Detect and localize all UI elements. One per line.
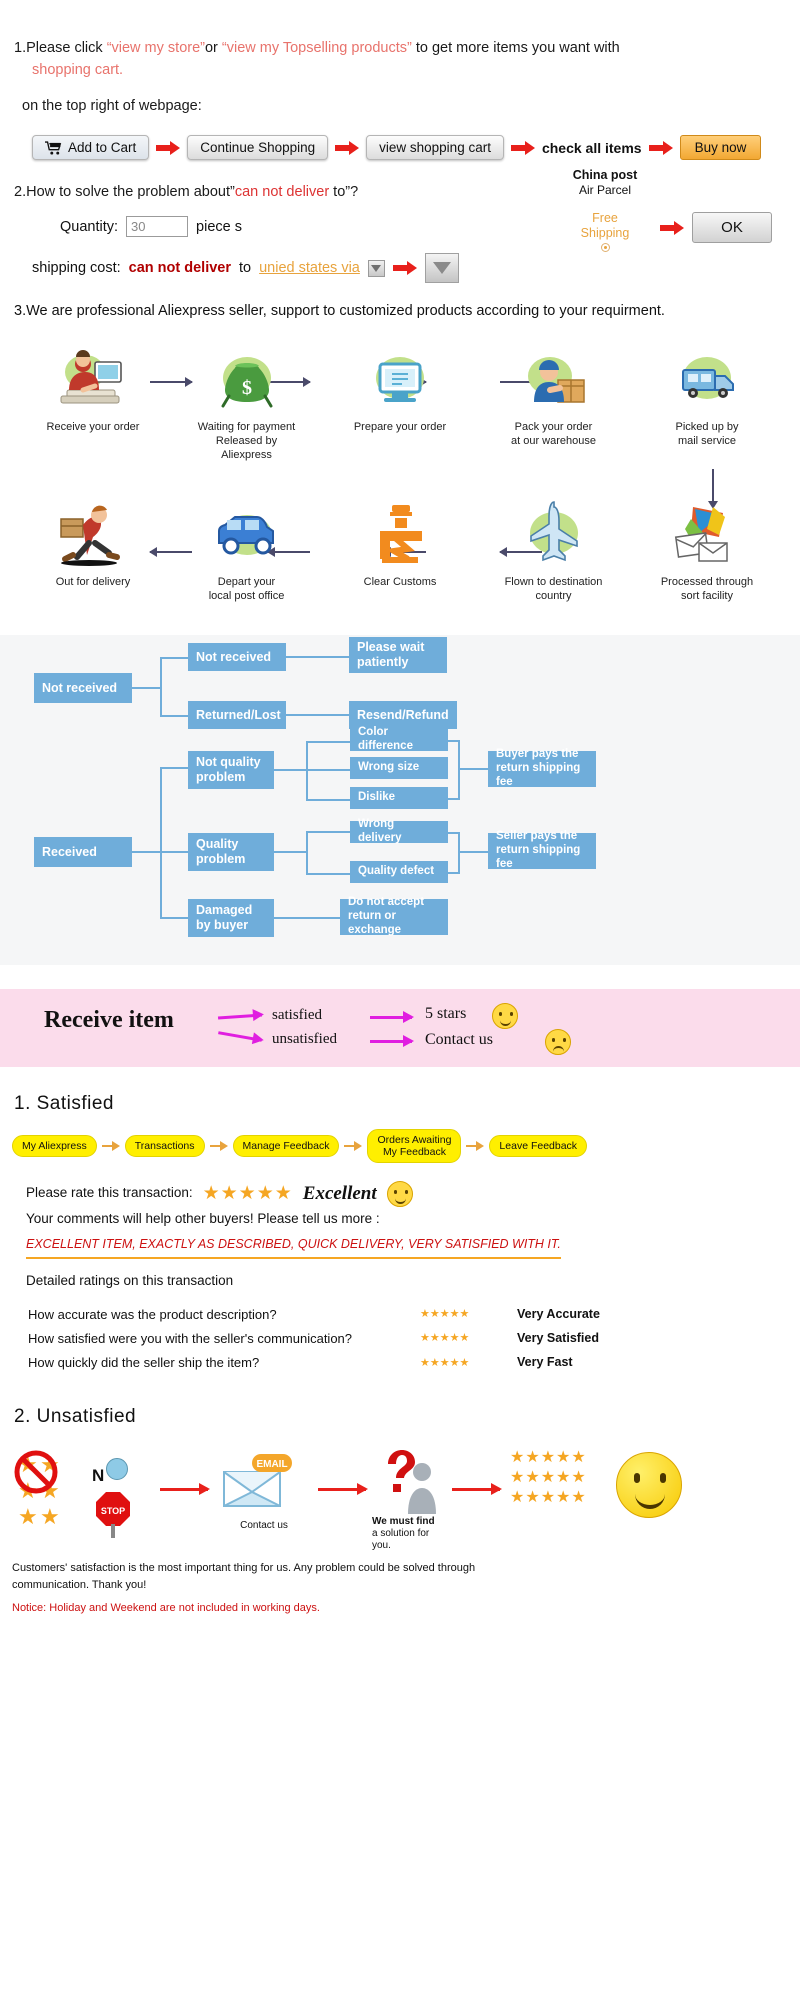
chain-leave-feedback[interactable]: Leave Feedback [489, 1135, 587, 1157]
solution-caption-rest: a solution for you. [372, 1528, 429, 1552]
solution-caption-bold: We must find [372, 1516, 435, 1528]
connector-line [160, 767, 162, 919]
red-right-arrow-icon [393, 261, 417, 275]
quantity-unit: piece s [196, 219, 242, 235]
connector-line [286, 656, 349, 658]
connector-line [458, 851, 488, 853]
table-row: How quickly did the seller ship the item… [28, 1352, 600, 1374]
sorted-mail-icon [652, 496, 762, 576]
section1-line3: on the top right of webpage: [14, 96, 788, 118]
flow-arrow-icon [150, 381, 192, 383]
svg-text:EMAIL: EMAIL [256, 1459, 287, 1470]
ok-button[interactable]: OK [692, 212, 772, 243]
view-shopping-cart-label: view shopping cart [379, 140, 491, 155]
section2-heading-suffix: to”? [329, 184, 358, 200]
rating-block: Please rate this transaction: ★★★★★ Exce… [26, 1179, 800, 1376]
flow-step: Pack your order at our warehouse [499, 341, 609, 449]
red-right-arrow-icon [511, 141, 535, 155]
section1-line1: 1.Please click “view my store”or “view m… [14, 38, 788, 60]
connector-line [132, 687, 162, 689]
rating-value: Very Fast [517, 1352, 600, 1374]
connector-line [458, 832, 460, 874]
connector-line [306, 873, 350, 875]
flow-arrow-icon [150, 551, 192, 553]
flow-step: Processed through sort facility [652, 496, 762, 604]
rate-prompt-row: Please rate this transaction: ★★★★★ Exce… [26, 1179, 800, 1208]
flow-box-please-wait: Please wait patiently [349, 637, 447, 673]
view-topselling-link[interactable]: “view my Topselling products” [222, 40, 412, 56]
connector-line [160, 715, 188, 717]
rating-stars: ★★★★★ [420, 1328, 515, 1350]
star-row: ★★★★★ [510, 1468, 587, 1488]
connector-line [286, 714, 349, 716]
footer-line2: communication. Thank you! [12, 1577, 800, 1594]
footer-line1: Customers' satisfaction is the most impo… [12, 1560, 800, 1577]
unsatisfied-branch-label: unsatisfied [272, 1031, 337, 1048]
section-1: 1.Please click “view my store”or “view m… [0, 0, 800, 160]
rating-question: How satisfied were you with the seller's… [28, 1328, 418, 1350]
buy-now-label: Buy now [695, 140, 747, 155]
delivery-van-icon [192, 496, 302, 576]
free-shipping-line1: Free [540, 211, 670, 225]
flow-step: Depart your local post office [192, 496, 302, 604]
footer-notice: Notice: Holiday and Weekend are not incl… [12, 1600, 800, 1617]
magenta-arrow-icon [218, 1013, 262, 1019]
connector-line [160, 657, 162, 717]
country-select-caret-icon[interactable] [368, 260, 385, 277]
connector-line [274, 917, 340, 919]
continue-shopping-label: Continue Shopping [200, 140, 315, 155]
red-arrow-icon [160, 1488, 208, 1491]
flow-box-wrong-size: Wrong size [350, 757, 448, 779]
flow-step-caption: Flown to destination country [499, 576, 609, 604]
yellow-arrow-icon [210, 1141, 228, 1151]
rating-question: How accurate was the product description… [28, 1304, 418, 1326]
shipping-cost-row: shipping cost:can not deliver to unied s… [32, 253, 788, 283]
email-envelope-icon: EMAIL [218, 1452, 310, 1514]
add-to-cart-button[interactable]: Add to Cart [32, 135, 149, 160]
decision-flowchart: Not received Not received Returned/Lost … [0, 635, 800, 965]
continue-shopping-button[interactable]: Continue Shopping [187, 135, 328, 160]
star-row: ★★★★★ [510, 1488, 587, 1508]
view-my-store-link[interactable]: “view my store” [107, 40, 205, 56]
flow-box-not-quality-problem: Not quality problem [188, 751, 274, 789]
flow-step-caption: Picked up by mail service [652, 421, 762, 449]
chain-orders-awaiting[interactable]: Orders Awaiting My Feedback [367, 1129, 461, 1163]
connector-line [160, 917, 188, 919]
page-root: 1.Please click “view my store”or “view m… [0, 0, 800, 1617]
connector-line [306, 831, 350, 833]
check-all-items-label: check all items [542, 140, 642, 156]
yellow-arrow-icon [102, 1141, 120, 1151]
detail-heading: Detailed ratings on this transaction [26, 1271, 800, 1292]
shipping-cost-red: can not deliver [129, 260, 231, 276]
section1-line1-prefix: 1.Please click [14, 40, 107, 56]
flow-step: Prepare your order [345, 341, 455, 435]
unsatisfied-section: 2. Unsatisfied ★ ★ ★ ★ ★ ★ N [0, 1406, 800, 1617]
flow-top-row: Receive your order $ Waiting for payment… [0, 341, 800, 462]
connector-line [274, 851, 308, 853]
flow-step: Out for delivery [38, 496, 148, 590]
quantity-input[interactable] [126, 216, 188, 237]
section2-heading: 2.How to solve the problem about”can not… [14, 182, 788, 204]
person-at-computer-icon [38, 341, 148, 421]
comment-text: EXCELLENT ITEM, EXACTLY AS DESCRIBED, QU… [26, 1235, 561, 1258]
section-3: 3.We are professional Aliexpress seller,… [0, 283, 800, 319]
five-stars-label: 5 stars [425, 1005, 466, 1023]
feedback-chain: My Aliexpress Transactions Manage Feedba… [12, 1129, 800, 1163]
red-right-arrow-icon [649, 141, 673, 155]
customs-officer-icon [345, 496, 455, 576]
airplane-icon [499, 496, 609, 576]
table-row: How satisfied were you with the seller's… [28, 1328, 600, 1350]
receive-item-band: Receive item satisfied unsatisfied 5 sta… [0, 989, 800, 1067]
flow-box-seller-pays: Seller pays the return shipping fee [488, 833, 596, 869]
red-right-arrow-icon [156, 141, 180, 155]
worker-packing-icon [499, 341, 609, 421]
connector-line [306, 769, 350, 771]
connector-line [132, 851, 162, 853]
yellow-arrow-icon [466, 1141, 484, 1151]
flow-step-caption: Out for delivery [38, 576, 148, 590]
quantity-label: Quantity: [60, 219, 118, 235]
carrier-block: China post Air Parcel Free Shipping [540, 168, 670, 252]
connector-line [306, 741, 350, 743]
red-arrow-icon [318, 1488, 366, 1491]
question-mark-person-icon [372, 1448, 444, 1518]
satisfied-branch-label: satisfied [272, 1007, 322, 1024]
smiley-face-icon [387, 1181, 413, 1207]
connector-line [458, 768, 488, 770]
flow-step-caption: Waiting for payment Released by Aliexpre… [192, 421, 302, 462]
shipping-country-link[interactable]: unied states via [259, 260, 360, 276]
yellow-arrow-icon [344, 1141, 362, 1151]
connector-line [306, 831, 308, 875]
chain-my-aliexpress[interactable]: My Aliexpress [12, 1135, 97, 1157]
flow-step-caption: Receive your order [38, 421, 148, 435]
flow-box-quality-problem: Quality problem [188, 833, 274, 871]
receive-item-title: Receive item [44, 1007, 174, 1034]
flow-box-not-received-root: Not received [34, 673, 132, 703]
flow-bottom-row: Out for delivery Depart your local post … [0, 496, 800, 604]
buy-now-button[interactable]: Buy now [680, 135, 762, 160]
no-label: N [92, 1466, 104, 1486]
flow-box-returned-lost: Returned/Lost [188, 701, 286, 729]
flow-box-color-difference: Color difference [350, 729, 448, 751]
flow-step-caption: Clear Customs [345, 576, 455, 590]
unsatisfied-graphic-row: ★ ★ ★ ★ ★ ★ N STOP [0, 1440, 800, 1550]
flow-box-damaged-by-buyer: Damaged by buyer [188, 899, 274, 937]
worried-face-icon [106, 1458, 128, 1480]
star-rating-icon: ★★★★★ ★★★★★ ★★★★★ [510, 1448, 587, 1508]
rate-prompt: Please rate this transaction: [26, 1183, 193, 1204]
flow-step: Picked up by mail service [652, 341, 762, 449]
ok-label: OK [721, 219, 743, 236]
connector-line [160, 657, 188, 659]
flow-box-no-return: Do not accept return or exchange [340, 899, 448, 935]
flow-step-caption: Prepare your order [345, 421, 455, 435]
connector-line [274, 769, 308, 771]
svg-text:STOP: STOP [101, 1506, 125, 1516]
star-row: ★★★★★ [510, 1448, 587, 1468]
connector-line [306, 799, 350, 801]
flow-box-not-received-child1: Not received [188, 643, 286, 671]
smiley-face-icon [492, 1003, 518, 1029]
rate-word: Excellent [303, 1179, 377, 1208]
flow-step-caption: Depart your local post office [192, 576, 302, 604]
chain-transactions[interactable]: Transactions [125, 1135, 205, 1157]
chain-manage-feedback[interactable]: Manage Feedback [233, 1135, 340, 1157]
red-arrow-icon [452, 1488, 500, 1491]
connector-line [448, 872, 460, 874]
section3-text: 3.We are professional Aliexpress seller,… [14, 303, 665, 319]
rating-stars: ★★★★★ [420, 1352, 515, 1374]
footer-note: Customers' satisfaction is the most impo… [12, 1560, 800, 1617]
section1-line1-suffix: to get more items you want with [412, 40, 620, 56]
money-bag-icon: $ [192, 341, 302, 421]
svg-text:$: $ [242, 377, 252, 399]
shipping-cost-label: shipping cost: [32, 260, 121, 276]
magenta-arrow-icon [370, 1040, 412, 1043]
magenta-arrow-icon [218, 1031, 262, 1042]
flow-box-buyer-pays: Buyer pays the return shipping fee [488, 751, 596, 787]
connector-line [160, 851, 188, 853]
unsatisfied-heading: 2. Unsatisfied [14, 1406, 800, 1428]
stop-sign-icon: STOP [92, 1490, 138, 1538]
red-right-arrow-icon [660, 221, 684, 235]
svg-text:★: ★ [18, 1504, 38, 1529]
running-courier-icon [38, 496, 148, 576]
free-shipping-label: Free Shipping [540, 211, 670, 252]
free-shipping-radio[interactable] [601, 243, 610, 252]
svg-text:★: ★ [40, 1504, 60, 1529]
carrier-title: China post [540, 168, 670, 182]
contact-us-label: Contact us [425, 1031, 493, 1049]
flow-step: Clear Customs [345, 496, 455, 590]
table-row: How accurate was the product description… [28, 1304, 600, 1326]
section1-line2: shopping cart. [14, 60, 788, 82]
flow-box-received-root: Received [34, 837, 132, 867]
connector-line [160, 767, 188, 769]
red-right-arrow-icon [335, 141, 359, 155]
big-smiley-icon [616, 1452, 682, 1518]
magenta-arrow-icon [370, 1016, 412, 1019]
no-stars-icon: ★ ★ ★ ★ ★ ★ [14, 1446, 98, 1532]
flow-step: Receive your order [38, 341, 148, 435]
satisfied-heading: 1. Satisfied [14, 1093, 800, 1115]
rating-stars: ★★★★★ [420, 1304, 515, 1326]
shipping-method-dropdown[interactable] [425, 253, 459, 283]
flow-box-wrong-delivery: Wrong delivery [350, 821, 448, 843]
frowny-face-icon [545, 1029, 571, 1055]
flow-box-resend-refund: Resend/Refund [349, 701, 457, 729]
shipping-cost-to: to [239, 260, 251, 276]
detailed-ratings-table: How accurate was the product description… [26, 1302, 602, 1376]
free-shipping-line2: Shipping [540, 226, 670, 240]
computer-order-icon [345, 341, 455, 421]
section2-heading-prefix: 2.How to solve the problem about” [14, 184, 235, 200]
contact-us-caption: Contact us [218, 1520, 310, 1532]
section2-heading-red: can not deliver [235, 184, 329, 200]
rate-stars[interactable]: ★★★★★ [203, 1179, 293, 1208]
shipping-pictogram-flow: Receive your order $ Waiting for payment… [0, 341, 800, 621]
connector-line [448, 798, 460, 800]
carrier-subtitle: Air Parcel [540, 183, 670, 197]
flow-step: Flown to destination country [499, 496, 609, 604]
rating-question: How quickly did the seller ship the item… [28, 1352, 418, 1374]
flow-box-dislike: Dislike [350, 787, 448, 809]
flow-step-caption: Processed through sort facility [652, 576, 762, 604]
mail-truck-icon [652, 341, 762, 421]
shopping-cart-icon [45, 141, 62, 155]
cart-button-row: Add to Cart Continue Shopping view shopp… [32, 135, 788, 160]
flow-step: $ Waiting for payment Released by Aliexp… [192, 341, 302, 462]
connector-line [306, 741, 308, 801]
satisfied-section: 1. Satisfied My Aliexpress Transactions … [0, 1093, 800, 1376]
rating-value: Very Satisfied [517, 1328, 600, 1350]
connector-line [458, 740, 460, 800]
ok-row: OK [660, 212, 772, 243]
comments-prompt: Your comments will help other buyers! Pl… [26, 1209, 800, 1230]
view-shopping-cart-button[interactable]: view shopping cart [366, 135, 504, 160]
flow-step-caption: Pack your order at our warehouse [499, 421, 609, 449]
flow-box-quality-defect: Quality defect [350, 861, 448, 883]
rating-value: Very Accurate [517, 1304, 600, 1326]
section1-mid: or [205, 40, 222, 56]
section-2: 2.How to solve the problem about”can not… [0, 160, 800, 283]
add-to-cart-label: Add to Cart [68, 140, 136, 155]
